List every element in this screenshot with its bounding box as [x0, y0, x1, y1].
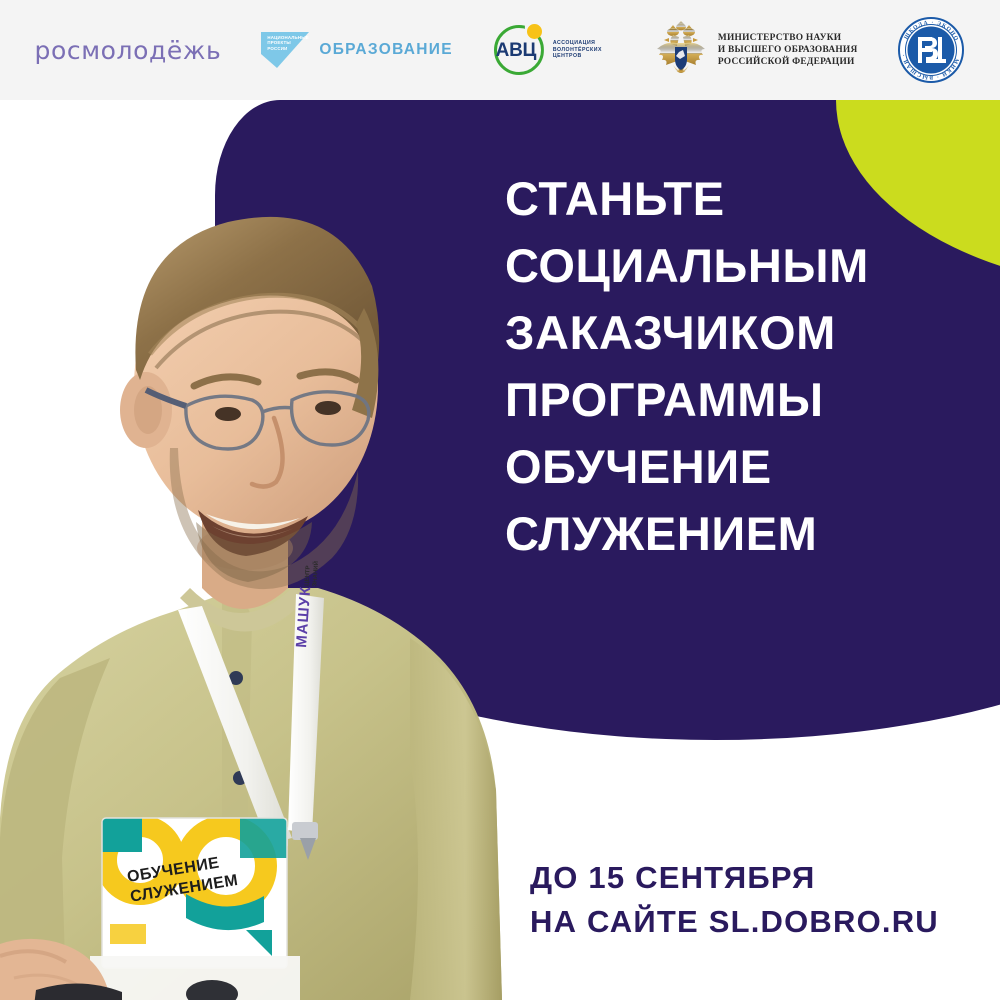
headline-line-3: ЗАКАЗЧИКОМ	[505, 299, 995, 366]
avc-dot-icon	[527, 24, 542, 39]
avc-mark-icon: АВЦ	[491, 22, 547, 78]
ministry-text: МИНИСТЕРСТВО НАУКИ И ВЫСШЕГО ОБРАЗОВАНИЯ…	[718, 32, 858, 69]
double-headed-eagle-icon	[653, 21, 709, 79]
headline-line-2: СОЦИАЛЬНЫМ	[505, 232, 995, 299]
call-to-action: ДО 15 СЕНТЯБРЯ НА САЙТЕ SL.DOBRO.RU	[530, 856, 990, 944]
headline-line-5: ОБУЧЕНИЕ	[505, 433, 995, 500]
partner-logo-band: росмолодёжь НАЦИОНАЛЬНЫЕ ПРОЕКТЫ РОССИИ …	[0, 0, 1000, 100]
logo-obrazovanie-label: ОБРАЗОВАНИЕ	[319, 41, 453, 59]
logo-hse: ШКОЛА · ЭКОНО МИКИ · ВЫСШАЯ ·	[896, 15, 966, 85]
cta-deadline: ДО 15 СЕНТЯБРЯ	[530, 856, 990, 900]
cta-website[interactable]: НА САЙТЕ SL.DOBRO.RU	[530, 900, 990, 944]
logo-rosmolodezh-label: росмолодёжь	[34, 36, 221, 65]
svg-text:ЦЕНТР: ЦЕНТР	[304, 565, 311, 586]
logo-avc: АВЦ АССОЦИАЦИЯ ВОЛОНТЁРСКИХ ЦЕНТРОВ	[491, 22, 615, 78]
avc-monogram: АВЦ	[491, 40, 541, 62]
logo-obrazovanie: НАЦИОНАЛЬНЫЕ ПРОЕКТЫ РОССИИ ОБРАЗОВАНИЕ	[259, 30, 453, 70]
national-project-flag-icon: НАЦИОНАЛЬНЫЕ ПРОЕКТЫ РОССИИ	[259, 30, 311, 70]
headline: СТАНЬТЕ СОЦИАЛЬНЫМ ЗАКАЗЧИКОМ ПРОГРАММЫ …	[505, 165, 995, 567]
logo-rosmolodezh: росмолодёжь	[34, 36, 221, 65]
logo-ministry: МИНИСТЕРСТВО НАУКИ И ВЫСШЕГО ОБРАЗОВАНИЯ…	[653, 21, 858, 79]
avc-subtitle: АССОЦИАЦИЯ ВОЛОНТЁРСКИХ ЦЕНТРОВ	[553, 40, 615, 60]
poster-canvas: МАШУК ЦЕНТР ЗНАНИЙ	[0, 0, 1000, 1000]
headline-line-4: ПРОГРАММЫ	[505, 366, 995, 433]
ministry-line-1: МИНИСТЕРСТВО НАУКИ	[718, 32, 858, 44]
headline-line-1: СТАНЬТЕ	[505, 165, 995, 232]
subject-photo: МАШУК ЦЕНТР ЗНАНИЙ	[0, 118, 560, 1000]
headline-line-6: СЛУЖЕНИЕМ	[505, 500, 995, 567]
ministry-line-2: И ВЫСШЕГО ОБРАЗОВАНИЯ	[718, 44, 858, 56]
ministry-line-3: РОССИЙСКОЙ ФЕДЕРАЦИИ	[718, 56, 858, 68]
flag-caption: НАЦИОНАЛЬНЫЕ ПРОЕКТЫ РОССИИ	[267, 35, 307, 51]
